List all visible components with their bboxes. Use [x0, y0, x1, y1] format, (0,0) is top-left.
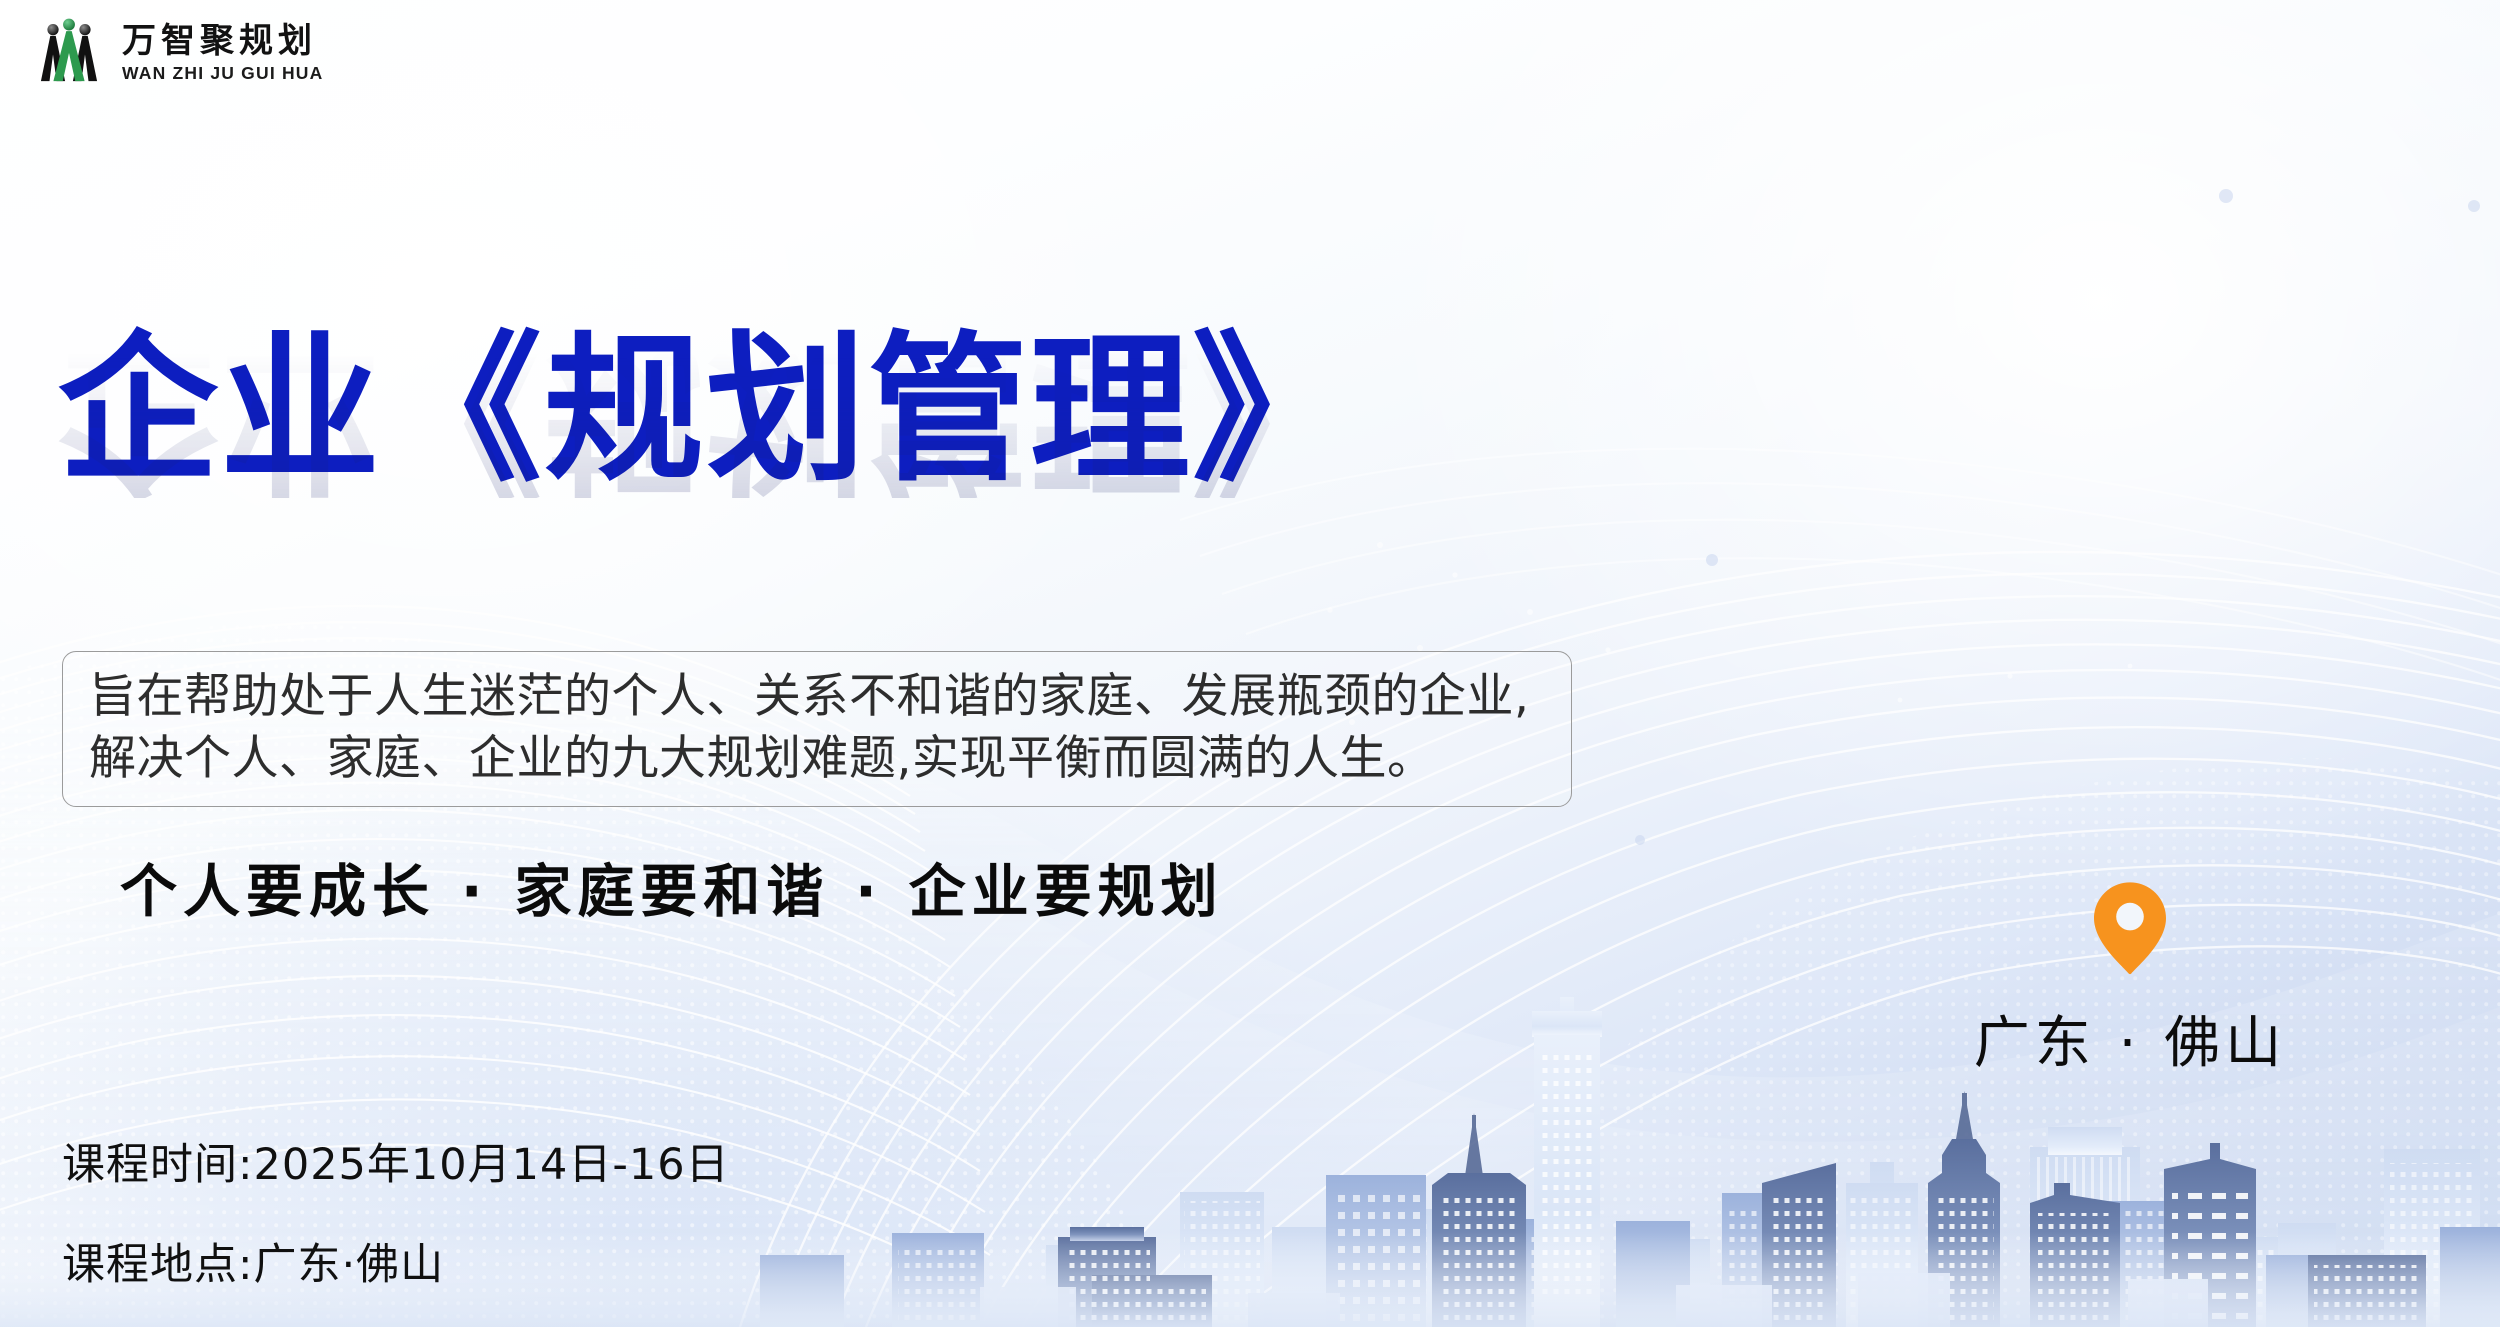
- location-label: 广东 · 佛山: [1974, 998, 2286, 1079]
- description-line-2: 解决个人、家庭、企业的九大规划难题,实现平衡而圆满的人生。: [89, 728, 1549, 790]
- description-line-1: 旨在帮助处于人生迷茫的个人、关系不和谐的家庭、发展瓶颈的企业,: [89, 666, 1549, 728]
- brand-name-cn: 万智聚规划: [122, 23, 323, 61]
- brand-name-en: WAN ZHI JU GUI HUA: [122, 63, 323, 83]
- course-place-line: 课程地点:广东·佛山: [62, 1230, 730, 1292]
- description-box: 旨在帮助处于人生迷茫的个人、关系不和谐的家庭、发展瓶颈的企业, 解决个人、家庭、…: [62, 651, 1572, 807]
- banner-canvas: 万智聚规划 WAN ZHI JU GUI HUA 企业《规划管理》 企业《规划管…: [0, 0, 2500, 1327]
- course-info-block: 课程时间:2025年10月14日-16日 课程地点:广东·佛山: [62, 1130, 730, 1292]
- page-title: 企业《规划管理》: [58, 330, 1658, 490]
- slogan-text: 个人要成长 · 家庭要和谐 · 企业要规划: [120, 846, 1224, 928]
- brand-logo: 万智聚规划 WAN ZHI JU GUI HUA: [30, 14, 323, 92]
- three-people-mountain-logo-icon: [30, 14, 108, 92]
- main-title-group: 企业《规划管理》 企业《规划管理》: [58, 330, 1658, 490]
- map-pin-icon: [2091, 880, 2169, 976]
- course-time-line: 课程时间:2025年10月14日-16日: [62, 1130, 730, 1192]
- location-badge: 广东 · 佛山: [1960, 880, 2300, 1079]
